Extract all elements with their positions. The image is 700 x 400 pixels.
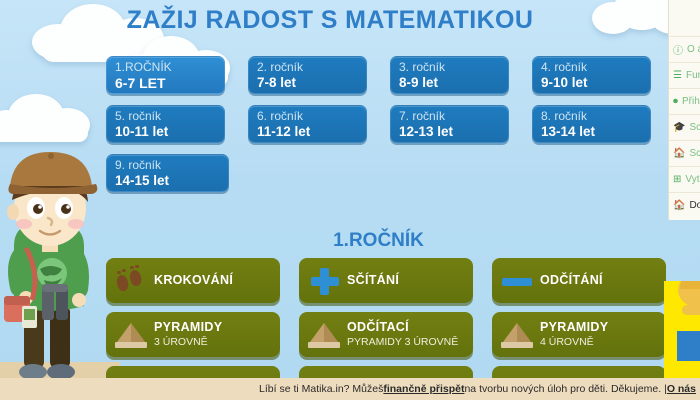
boy-explorer-illustration xyxy=(0,138,104,388)
promo-blue-box xyxy=(677,331,700,361)
grade-button-4[interactable]: 4. ročník 9-10 let xyxy=(532,56,651,94)
boy-ear xyxy=(7,204,19,220)
card-text: PYRAMIDY 4 ÚROVNĚ xyxy=(536,321,608,347)
sidebar-item-label: Vyt xyxy=(685,174,699,185)
sidebar-item-label: Do xyxy=(689,200,700,211)
grade-row: 5. ročník 10-11 let 6. ročník 11-12 let … xyxy=(106,105,651,143)
grade-age: 7-8 let xyxy=(257,75,366,91)
home-icon: 🏠 xyxy=(673,200,685,211)
grade-label: 3. ročník xyxy=(399,60,508,75)
promo-banner[interactable] xyxy=(664,281,700,381)
grade-label: 7. ročník xyxy=(399,109,508,124)
boy-eye-glint xyxy=(66,205,70,209)
sidebar-item-label: Fun xyxy=(686,70,700,81)
sidebar-item-domu[interactable]: 🏠 Do xyxy=(669,192,700,218)
grade-age: 10-11 let xyxy=(115,124,224,140)
grade-button-6[interactable]: 6. ročník 11-12 let xyxy=(248,105,367,143)
card-text: SČÍTÁNÍ xyxy=(343,274,399,287)
page-title: ZAŽIJ RADOST S MATEMATIKOU xyxy=(0,6,660,35)
grade-age: 8-9 let xyxy=(399,75,508,91)
boy-eye-glint xyxy=(38,205,42,209)
grade-label: 4. ročník xyxy=(541,60,650,75)
card-text: PYRAMIDY 3 ÚROVNĚ xyxy=(150,321,222,347)
boy-pupil-left xyxy=(33,204,43,214)
pyramid-icon xyxy=(114,319,150,351)
exercise-card-pyramidy-4[interactable]: PYRAMIDY 4 ÚROVNĚ xyxy=(492,312,666,357)
card-title: ODČÍTACÍ xyxy=(347,321,458,334)
card-text: ODČÍTÁNÍ xyxy=(536,274,603,287)
boy-satchel-flap xyxy=(4,296,30,305)
grade-button-8[interactable]: 8. ročník 13-14 let xyxy=(532,105,651,143)
card-title: PYRAMIDY xyxy=(540,321,608,334)
pyramid-icon xyxy=(500,319,536,351)
grade-label: 5. ročník xyxy=(115,109,224,124)
grade-label: 1.ROČNÍK xyxy=(115,60,224,75)
card-title: KROKOVÁNÍ xyxy=(154,274,233,287)
exercise-card-krokovani[interactable]: KROKOVÁNÍ xyxy=(106,258,280,303)
plus-icon xyxy=(307,265,343,297)
card-row: PYRAMIDY 3 ÚROVNĚ ODČÍTACÍ PYRAMIDY 3 ÚR… xyxy=(106,312,666,357)
sidebar-item-prihlaseni[interactable]: ⏺ Přih xyxy=(669,88,700,114)
donate-link[interactable]: finančně přispět xyxy=(383,383,464,395)
cloud-decoration xyxy=(0,94,96,142)
grade-button-5[interactable]: 5. ročník 10-11 let xyxy=(106,105,225,143)
info-icon: ⓘ xyxy=(673,42,683,57)
grade-label: 8. ročník xyxy=(541,109,650,124)
card-subtitle: 3 ÚROVNĚ xyxy=(154,337,222,348)
section-title: 1.ROČNÍK xyxy=(106,230,651,252)
boy-hand-right xyxy=(72,293,86,307)
grade-row: 9. ročník 14-15 let xyxy=(106,154,651,192)
exercise-card-odcitaci-pyramidy[interactable]: ODČÍTACÍ PYRAMIDY 3 ÚROVNĚ xyxy=(299,312,473,357)
footer-text-before: Líbí se ti Matika.in? Můžeš xyxy=(259,383,383,395)
sidebar-item-vytvorit[interactable]: ⊞ Vyt xyxy=(669,166,700,192)
about-link[interactable]: O nás xyxy=(667,383,696,395)
grade-button-7[interactable]: 7. ročník 12-13 let xyxy=(390,105,509,143)
boy-cheek-right xyxy=(68,219,84,229)
boy-cheek-left xyxy=(16,219,32,229)
footer-text-after: na tvorbu nových úloh pro děti. Děkujeme… xyxy=(464,383,666,395)
sidebar-item-label: Přih xyxy=(682,96,700,107)
sidebar-item-label: Scé xyxy=(689,148,700,159)
boy-pupil-right xyxy=(61,204,71,214)
binoculars-bridge xyxy=(42,284,68,292)
sidebar-item-funkce[interactable]: ☰ Fun xyxy=(669,62,700,88)
sidebar-item-label: O á xyxy=(687,44,700,55)
grade-age: 12-13 let xyxy=(399,124,508,140)
sidebar-item-label: Sc xyxy=(689,122,700,133)
card-title: ODČÍTÁNÍ xyxy=(540,274,603,287)
sidebar-item-o-nas[interactable]: ⓘ O á xyxy=(669,36,700,62)
card-text: KROKOVÁNÍ xyxy=(150,274,233,287)
hamburger-icon: ☰ xyxy=(673,70,682,81)
exercise-card-scitani[interactable]: SČÍTÁNÍ xyxy=(299,258,473,303)
boy-cap-button xyxy=(48,153,54,159)
exercise-card-pyramidy-3[interactable]: PYRAMIDY 3 ÚROVNĚ xyxy=(106,312,280,357)
card-row: KROKOVÁNÍ SČÍTÁNÍ ODČÍTÁNÍ xyxy=(106,258,666,303)
login-icon: ⏺ xyxy=(673,96,678,107)
grade-button-3[interactable]: 3. ročník 8-9 let xyxy=(390,56,509,94)
grade-label: 9. ročník xyxy=(115,158,228,173)
minus-icon xyxy=(500,265,536,297)
grade-age: 14-15 let xyxy=(115,173,228,189)
sidebar-menu: ⓘ O á ☰ Fun ⏺ Přih 🎓 Sc 🏠 Scé ⊞ Vyt 🏠 Do xyxy=(668,0,700,220)
pyramid-icon xyxy=(307,319,343,351)
grade-button-9[interactable]: 9. ročník 14-15 let xyxy=(106,154,229,192)
grade-label: 2. ročník xyxy=(257,60,366,75)
footprints-icon xyxy=(114,265,150,297)
boy-card-image xyxy=(24,309,35,320)
card-title: PYRAMIDY xyxy=(154,321,222,334)
promo-character-hair xyxy=(680,281,700,289)
grade-button-1[interactable]: 1.ROČNÍK 6-7 LET xyxy=(106,56,225,94)
sidebar-item-skola[interactable]: 🎓 Sc xyxy=(669,114,700,140)
promo-character-arm xyxy=(682,305,700,315)
grade-selector: 1.ROČNÍK 6-7 LET 2. ročník 7-8 let 3. ro… xyxy=(106,56,651,203)
grade-label: 6. ročník xyxy=(257,109,366,124)
card-text: ODČÍTACÍ PYRAMIDY 3 ÚROVNĚ xyxy=(343,321,458,347)
card-subtitle: 4 ÚROVNĚ xyxy=(540,337,608,348)
exercise-card-odcitani[interactable]: ODČÍTÁNÍ xyxy=(492,258,666,303)
grade-age: 9-10 let xyxy=(541,75,650,91)
graduation-cap-icon: 🎓 xyxy=(673,122,685,133)
grade-button-2[interactable]: 2. ročník 7-8 let xyxy=(248,56,367,94)
plus-square-icon: ⊞ xyxy=(673,174,681,185)
grade-row: 1.ROČNÍK 6-7 LET 2. ročník 7-8 let 3. ro… xyxy=(106,56,651,94)
home-icon: 🏠 xyxy=(673,148,685,159)
card-title: SČÍTÁNÍ xyxy=(347,274,399,287)
grade-age: 6-7 LET xyxy=(115,75,224,91)
grade-age: 13-14 let xyxy=(541,124,650,140)
footer-bar: Líbí se ti Matika.in? Můžeš finančně při… xyxy=(0,378,700,400)
grade-age: 11-12 let xyxy=(257,124,366,140)
sidebar-item-scenare[interactable]: 🏠 Scé xyxy=(669,140,700,166)
card-subtitle: PYRAMIDY 3 ÚROVNĚ xyxy=(347,337,458,348)
